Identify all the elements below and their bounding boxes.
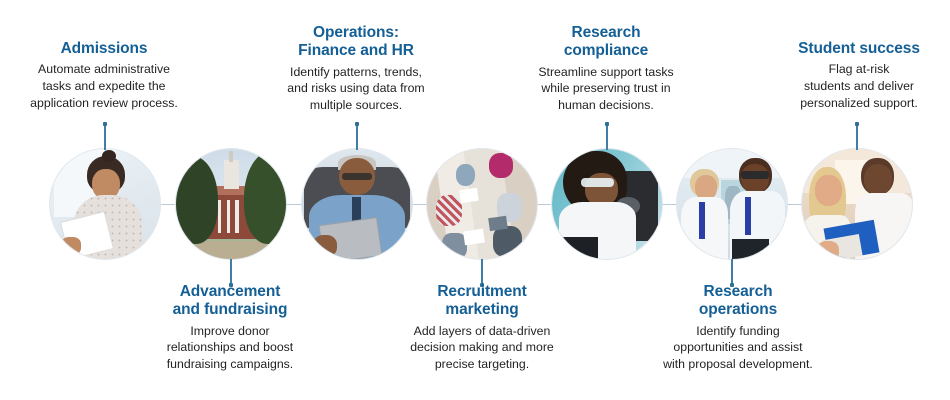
researcher-at-microscope-photo — [552, 149, 662, 259]
circle-photo-student-success[interactable] — [802, 149, 912, 259]
description-advancement-and-fundraising: Improve donor relationships and boost fu… — [140, 323, 320, 373]
heading-operations-finance-and-hr: Operations: Finance and HR — [258, 24, 454, 61]
circle-photo-research-operations[interactable] — [677, 149, 787, 259]
heading-research-compliance: Research compliance — [512, 24, 700, 61]
description-operations-finance-and-hr: Identify patterns, trends, and risks usi… — [258, 64, 454, 114]
label-research-operations: Research operations Identify funding opp… — [640, 283, 836, 373]
description-student-success: Flag at-risk students and deliver person… — [772, 61, 946, 111]
woman-reading-letter-photo — [50, 149, 160, 259]
circle-photo-advancement-and-fundraising[interactable] — [176, 149, 286, 259]
stem-operations-finance-and-hr — [356, 122, 358, 150]
label-recruitment-marketing: Recruitment marketing Add layers of data… — [388, 283, 576, 373]
stem-student-success — [856, 122, 858, 150]
label-admissions: Admissions Automate administrative tasks… — [4, 40, 204, 111]
circle-photo-research-compliance[interactable] — [552, 149, 662, 259]
label-research-compliance: Research compliance Streamline support t… — [512, 24, 700, 114]
heading-student-success: Student success — [772, 40, 946, 58]
circle-photo-admissions[interactable] — [50, 149, 160, 259]
label-advancement-and-fundraising: Advancement and fundraising Improve dono… — [140, 283, 320, 373]
stem-research-compliance — [606, 122, 608, 150]
circle-photo-recruitment-marketing[interactable] — [427, 149, 537, 259]
heading-admissions: Admissions — [4, 40, 204, 58]
heading-recruitment-marketing: Recruitment marketing — [388, 283, 576, 320]
description-research-compliance: Streamline support tasks while preservin… — [512, 64, 700, 114]
heading-research-operations: Research operations — [640, 283, 836, 320]
description-research-operations: Identify funding opportunities and assis… — [640, 323, 836, 373]
use-case-infographic: Admissions Automate administrative tasks… — [0, 0, 950, 400]
overhead-meeting-table-photo — [427, 149, 537, 259]
man-with-tablet-photo — [302, 149, 412, 259]
label-operations-finance-and-hr: Operations: Finance and HR Identify patt… — [258, 24, 454, 114]
description-admissions: Automate administrative tasks and expedi… — [4, 61, 204, 111]
circle-photo-operations-finance-and-hr[interactable] — [302, 149, 412, 259]
label-student-success: Student success Flag at-risk students an… — [772, 40, 946, 111]
heading-advancement-and-fundraising: Advancement and fundraising — [140, 283, 320, 320]
campus-building-photo — [176, 149, 286, 259]
description-recruitment-marketing: Add layers of data-driven decision makin… — [388, 323, 576, 373]
stem-admissions — [104, 122, 106, 150]
two-lab-scientists-photo — [677, 149, 787, 259]
advisor-with-folder-photo — [802, 149, 912, 259]
